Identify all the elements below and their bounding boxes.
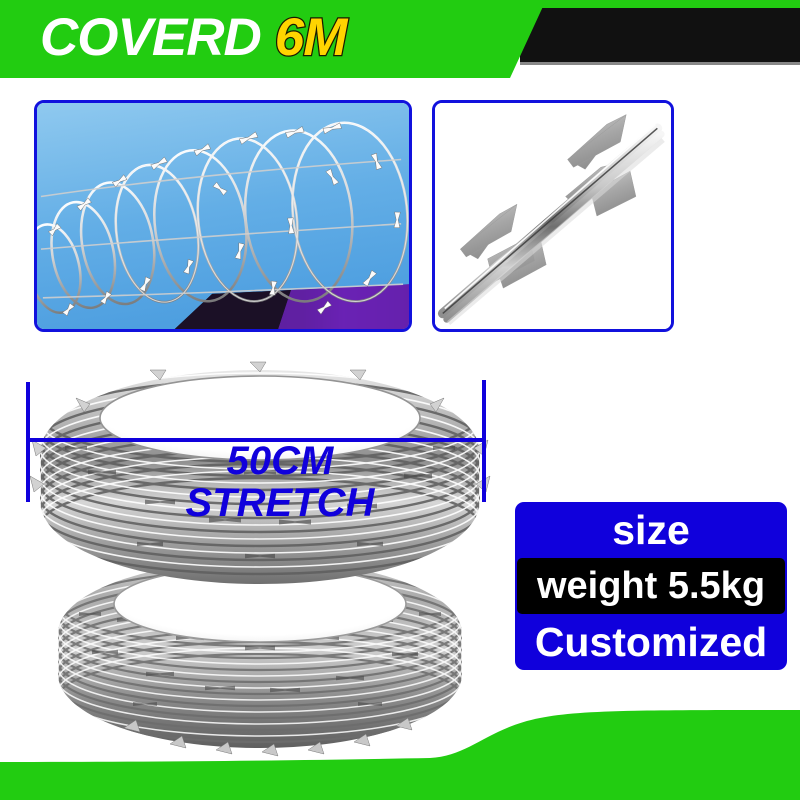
razor-wire-fence-illustration	[37, 103, 409, 329]
header-black-band	[520, 8, 800, 62]
product-banner: COVERD 6M	[0, 0, 800, 800]
spec-row-customized: Customized	[515, 614, 787, 670]
brand-name-text: COVERD	[40, 11, 261, 64]
length-label-text: 6M	[275, 11, 347, 64]
header-black-band-underline	[520, 62, 800, 65]
dimension-value-text: 50CM	[150, 440, 410, 482]
photo-razor-blade-closeup	[432, 100, 674, 332]
bottom-accent-shape	[0, 680, 800, 800]
dimension-label: 50CM STRETCH	[150, 440, 410, 524]
razor-blade-closeup-illustration	[435, 103, 671, 329]
specification-box: size weight 5.5kg Customized	[515, 502, 787, 670]
photo-razor-wire-coils-on-fence	[34, 100, 412, 332]
header-title: COVERD 6M	[40, 6, 346, 68]
spec-row-weight: weight 5.5kg	[517, 558, 785, 614]
bottom-green-accent	[0, 680, 800, 800]
header-banner: COVERD 6M	[0, 0, 800, 90]
dimension-unit-text: STRETCH	[150, 482, 410, 524]
spec-row-size: size	[515, 502, 787, 558]
